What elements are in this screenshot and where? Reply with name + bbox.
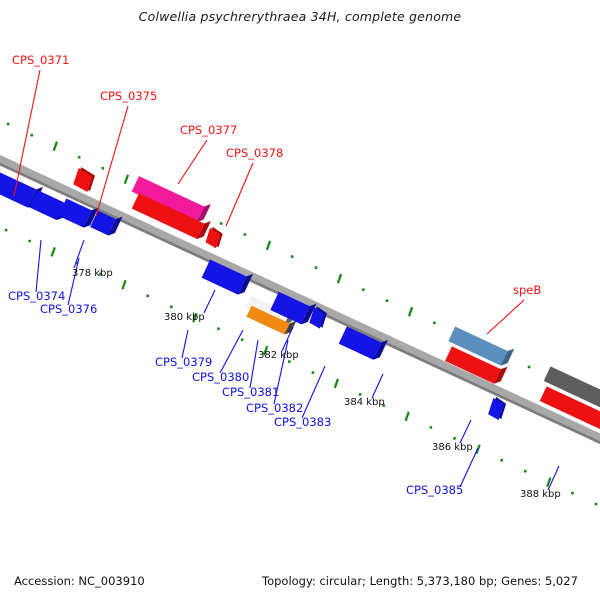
- tick-dot-1-22: [524, 470, 527, 473]
- label-tick-388: 388 kbp: [520, 489, 561, 500]
- label-tick-380: 380 kbp: [164, 312, 205, 323]
- label-layer: CPS_0371CPS_0375CPS_0377CPS_0378speBCPS_…: [8, 53, 561, 500]
- tick-dot-0-3: [78, 156, 81, 159]
- tick-dot-1-7: [170, 306, 173, 309]
- backbone-layer: [0, 156, 600, 443]
- leader-CPS_0376: [68, 258, 79, 305]
- tick-dot-0-22: [528, 366, 531, 369]
- tick-dot-0-0: [7, 123, 10, 126]
- tick-dot-1-10: [241, 338, 244, 341]
- label-speB[interactable]: speB: [513, 283, 541, 297]
- leader-CPS_0378: [226, 163, 253, 226]
- leader-CPS_0379: [182, 330, 188, 358]
- tick-dot-1-21: [500, 459, 503, 462]
- leader-speB: [487, 300, 524, 334]
- tick-dot-1-9: [217, 327, 220, 330]
- tick-dash-1-2: [52, 247, 55, 256]
- genome-axis[interactable]: [0, 156, 600, 440]
- tick-dot-1-6: [146, 295, 149, 298]
- label-CPS_0374[interactable]: CPS_0374: [8, 289, 65, 303]
- tick-dash-1-17: [406, 412, 409, 421]
- tick-dash-0-17: [409, 307, 412, 316]
- leader-CPS_0374: [36, 240, 41, 292]
- tick-dot-1-24: [571, 492, 574, 495]
- label-tick-378: 378 kbp: [72, 268, 113, 279]
- tick-dot-1-0: [5, 229, 8, 232]
- leader-tick-384: [372, 374, 383, 398]
- tick-dot-0-4: [102, 167, 105, 170]
- tick-dash-0-2: [54, 142, 57, 151]
- tick-dash-0-11: [267, 241, 270, 250]
- label-CPS_0382[interactable]: CPS_0382: [246, 401, 303, 415]
- tick-dash-0-14: [338, 274, 341, 283]
- tick-dot-1-18: [430, 426, 433, 429]
- leader-CPS_0375: [96, 106, 128, 216]
- label-CPS_0380[interactable]: CPS_0380: [192, 370, 249, 384]
- label-CPS_0377[interactable]: CPS_0377: [180, 123, 237, 137]
- label-CPS_0375[interactable]: CPS_0375: [100, 89, 157, 103]
- tick-dot-1-13: [312, 371, 315, 374]
- tick-dot-0-13: [315, 266, 318, 269]
- label-tick-382: 382 kbp: [258, 350, 299, 361]
- label-CPS_0376[interactable]: CPS_0376: [40, 302, 97, 316]
- label-CPS_0381[interactable]: CPS_0381: [222, 385, 279, 399]
- label-CPS_0383[interactable]: CPS_0383: [274, 415, 331, 429]
- leader-tick-380: [204, 290, 215, 313]
- accession-text: Accession: NC_003910: [14, 574, 145, 588]
- genome-stats-text: Topology: circular; Length: 5,373,180 bp…: [262, 574, 578, 588]
- genome-map-canvas: CPS_0371CPS_0375CPS_0377CPS_0378speBCPS_…: [0, 0, 600, 600]
- leader-CPS_0380: [220, 330, 243, 373]
- tick-dash-0-5: [125, 175, 128, 184]
- leader-CPS_0385: [460, 448, 478, 487]
- tick-dot-1-19: [453, 437, 456, 440]
- tick-dot-0-18: [433, 322, 436, 325]
- gene-arrow-4[interactable]: [71, 166, 98, 193]
- tick-dot-1-1: [28, 240, 31, 243]
- tick-dot-0-10: [244, 233, 247, 236]
- label-CPS_0385[interactable]: CPS_0385: [406, 483, 463, 497]
- label-tick-386: 386 kbp: [432, 442, 473, 453]
- tick-dot-0-15: [362, 288, 365, 291]
- leader-tick-386: [460, 420, 471, 443]
- label-CPS_0378[interactable]: CPS_0378: [226, 146, 283, 160]
- label-CPS_0371[interactable]: CPS_0371: [12, 53, 69, 67]
- tick-dot-0-16: [386, 299, 389, 302]
- tick-dash-1-5: [122, 280, 125, 289]
- leader-CPS_0377: [178, 140, 207, 184]
- tick-dot-0-9: [220, 222, 223, 225]
- label-CPS_0379[interactable]: CPS_0379: [155, 355, 212, 369]
- label-tick-384: 384 kbp: [344, 397, 385, 408]
- tick-dash-1-14: [335, 379, 338, 388]
- tick-dot-1-25: [595, 503, 598, 506]
- leader-tick-378: [74, 240, 84, 268]
- genome-viewer: Colwellia psychrerythraea 34H, complete …: [0, 0, 600, 600]
- tick-dot-1-15: [359, 393, 362, 396]
- tick-dot-0-1: [30, 134, 33, 137]
- leader-CPS_0381: [250, 340, 258, 388]
- tick-dot-0-12: [291, 255, 294, 258]
